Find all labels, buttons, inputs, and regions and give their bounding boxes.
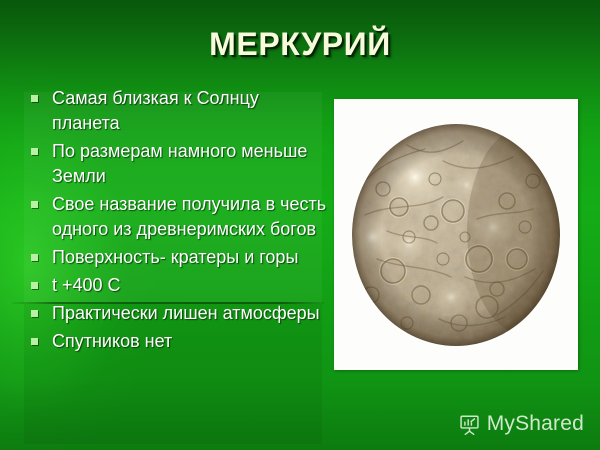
list-item: Поверхность- кратеры и горы	[31, 245, 331, 270]
bullet-list: Самая близкая к Солнцу планета По размер…	[31, 86, 331, 357]
planet-mercury-icon	[347, 119, 565, 351]
list-item: Спутников нет	[31, 329, 331, 354]
bullet-square-icon	[31, 148, 38, 155]
bullet-square-icon	[31, 254, 38, 261]
bullet-text: Практически лишен атмосферы	[52, 301, 331, 326]
watermark-label: MyShared	[487, 412, 584, 436]
list-item: Самая близкая к Солнцу планета	[31, 86, 331, 136]
bullet-square-icon	[31, 338, 38, 345]
bullet-text: Поверхность- кратеры и горы	[52, 245, 331, 270]
bullet-text: По размерам намного меньше Земли	[52, 139, 331, 189]
mercury-picture-frame	[334, 99, 578, 370]
presentation-board-icon	[458, 413, 481, 436]
bullet-text: t +400 C	[52, 273, 331, 298]
list-item: Практически лишен атмосферы	[31, 301, 331, 326]
slide-canvas: МЕРКУРИЙ Самая близкая к Солнцу планета …	[0, 0, 600, 450]
bullet-square-icon	[31, 201, 38, 208]
mercury-planet-image	[347, 119, 565, 351]
bullet-text: Спутников нет	[52, 329, 331, 354]
list-item: t +400 C	[31, 273, 331, 298]
bullet-square-icon	[31, 95, 38, 102]
bullet-square-icon	[31, 282, 38, 289]
myshared-watermark: MyShared	[458, 412, 584, 436]
slide-title: МЕРКУРИЙ	[0, 26, 600, 63]
bullet-text: Самая близкая к Солнцу планета	[52, 86, 331, 136]
bullet-text: Свое название получила в честь одного из…	[52, 192, 331, 242]
bullet-square-icon	[31, 310, 38, 317]
list-item: По размерам намного меньше Земли	[31, 139, 331, 189]
list-item: Свое название получила в честь одного из…	[31, 192, 331, 242]
